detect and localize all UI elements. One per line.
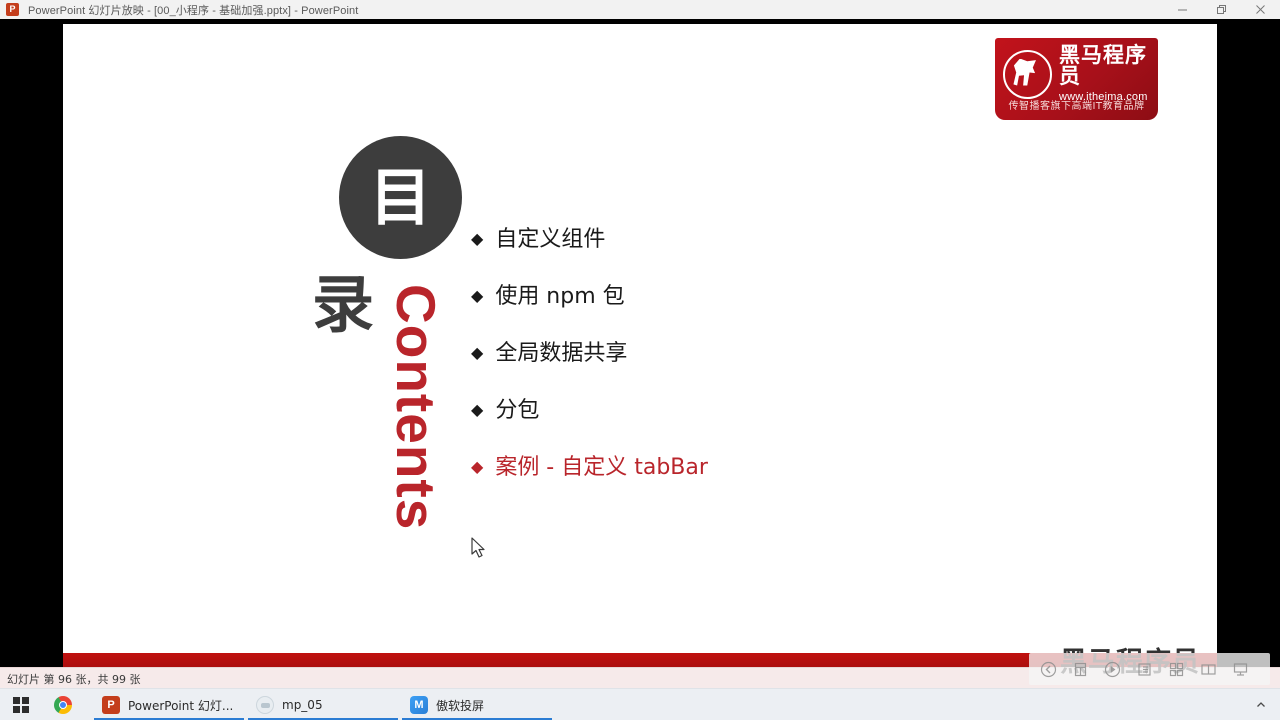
list-item[interactable]: ◆ 分包 [471, 392, 708, 449]
logo-words: 黑马程序员 www.itheima.com [1059, 45, 1158, 103]
windows-taskbar: P PowerPoint 幻灯... mp_05 M 傲软投屏 [0, 688, 1280, 720]
list-item[interactable]: ◆ 使用 npm 包 [471, 278, 708, 335]
zoom-button[interactable] [1162, 657, 1190, 681]
list-item-label: 全局数据共享 [495, 335, 627, 367]
taskbar-item-label: mp_05 [282, 698, 323, 712]
previous-slide-button[interactable] [1034, 657, 1062, 681]
chevron-up-icon[interactable] [1248, 689, 1274, 720]
window-title: PowerPoint 幻灯片放映 - [00_小程序 - 基础加强.pptx] … [28, 2, 358, 18]
diamond-bullet-icon: ◆ [471, 345, 483, 361]
horse-head-icon [1003, 50, 1052, 99]
slideshow-stage[interactable]: 黑马程序员 www.itheima.com 传智播客旗下高端IT教育品牌 目 录… [0, 19, 1280, 667]
diamond-bullet-icon: ◆ [471, 231, 483, 247]
logo-row: 黑马程序员 www.itheima.com [1003, 45, 1158, 103]
taskbar-item-aosoft[interactable]: M 傲软投屏 [400, 689, 554, 720]
contents-vertical-word: Contents [388, 284, 443, 530]
pen-tools-button[interactable] [1066, 657, 1094, 681]
restore-icon[interactable] [1202, 0, 1241, 19]
list-item[interactable]: ◆ 全局数据共享 [471, 335, 708, 392]
contents-char-below: 录 [312, 274, 374, 336]
agenda-list: ◆ 自定义组件 ◆ 使用 npm 包 ◆ 全局数据共享 ◆ 分包 ◆ 案例 [471, 221, 708, 506]
options-button[interactable] [1226, 657, 1254, 681]
all-slides-button[interactable] [1194, 657, 1222, 681]
cast-icon: M [410, 696, 428, 714]
diamond-bullet-icon: ◆ [471, 402, 483, 418]
window-controls [1163, 0, 1280, 19]
chrome-icon [54, 696, 72, 714]
list-item-label: 分包 [495, 392, 539, 424]
slideshow-control-bar[interactable] [1029, 653, 1270, 685]
slide-menu-button[interactable] [1130, 657, 1158, 681]
screen: P PowerPoint 幻灯片放映 - [00_小程序 - 基础加强.pptx… [0, 0, 1280, 720]
windows-start-icon[interactable] [0, 689, 42, 720]
window-titlebar: P PowerPoint 幻灯片放映 - [00_小程序 - 基础加强.pptx… [0, 0, 1280, 20]
brand-logo: 黑马程序员 www.itheima.com 传智播客旗下高端IT教育品牌 [995, 38, 1158, 120]
contents-circle: 目 [339, 136, 462, 259]
taskbar-item-powerpoint[interactable]: P PowerPoint 幻灯... [92, 689, 246, 720]
diamond-bullet-icon: ◆ [471, 288, 483, 304]
list-item-label: 使用 npm 包 [495, 278, 624, 310]
taskbar-item-label: 傲软投屏 [436, 697, 484, 714]
media-icon [256, 696, 274, 714]
diamond-bullet-icon: ◆ [471, 459, 483, 475]
list-item[interactable]: ◆ 自定义组件 [471, 221, 708, 278]
slide-canvas[interactable]: 黑马程序员 www.itheima.com 传智播客旗下高端IT教育品牌 目 录… [63, 24, 1217, 669]
next-slide-button[interactable] [1098, 657, 1126, 681]
minimize-icon[interactable] [1163, 0, 1202, 19]
contents-circle-glyph: 目 [369, 167, 431, 229]
taskbar-item-chrome[interactable] [42, 689, 92, 720]
taskbar-item-mp05[interactable]: mp_05 [246, 689, 400, 720]
close-icon[interactable] [1241, 0, 1280, 19]
list-item-label: 自定义组件 [495, 221, 605, 253]
powerpoint-icon: P [102, 696, 120, 714]
windows-logo-glyph [13, 697, 29, 713]
slide-counter-text: 幻灯片 第 96 张，共 99 张 [7, 671, 140, 687]
powerpoint-icon: P [6, 3, 19, 16]
logo-tagline: 传智播客旗下高端IT教育品牌 [995, 97, 1158, 112]
logo-brand-cn: 黑马程序员 [1059, 45, 1158, 87]
system-tray [1248, 689, 1280, 720]
taskbar-item-label: PowerPoint 幻灯... [128, 697, 233, 714]
list-item-label: 案例 - 自定义 tabBar [495, 449, 708, 481]
list-item[interactable]: ◆ 案例 - 自定义 tabBar [471, 449, 708, 506]
